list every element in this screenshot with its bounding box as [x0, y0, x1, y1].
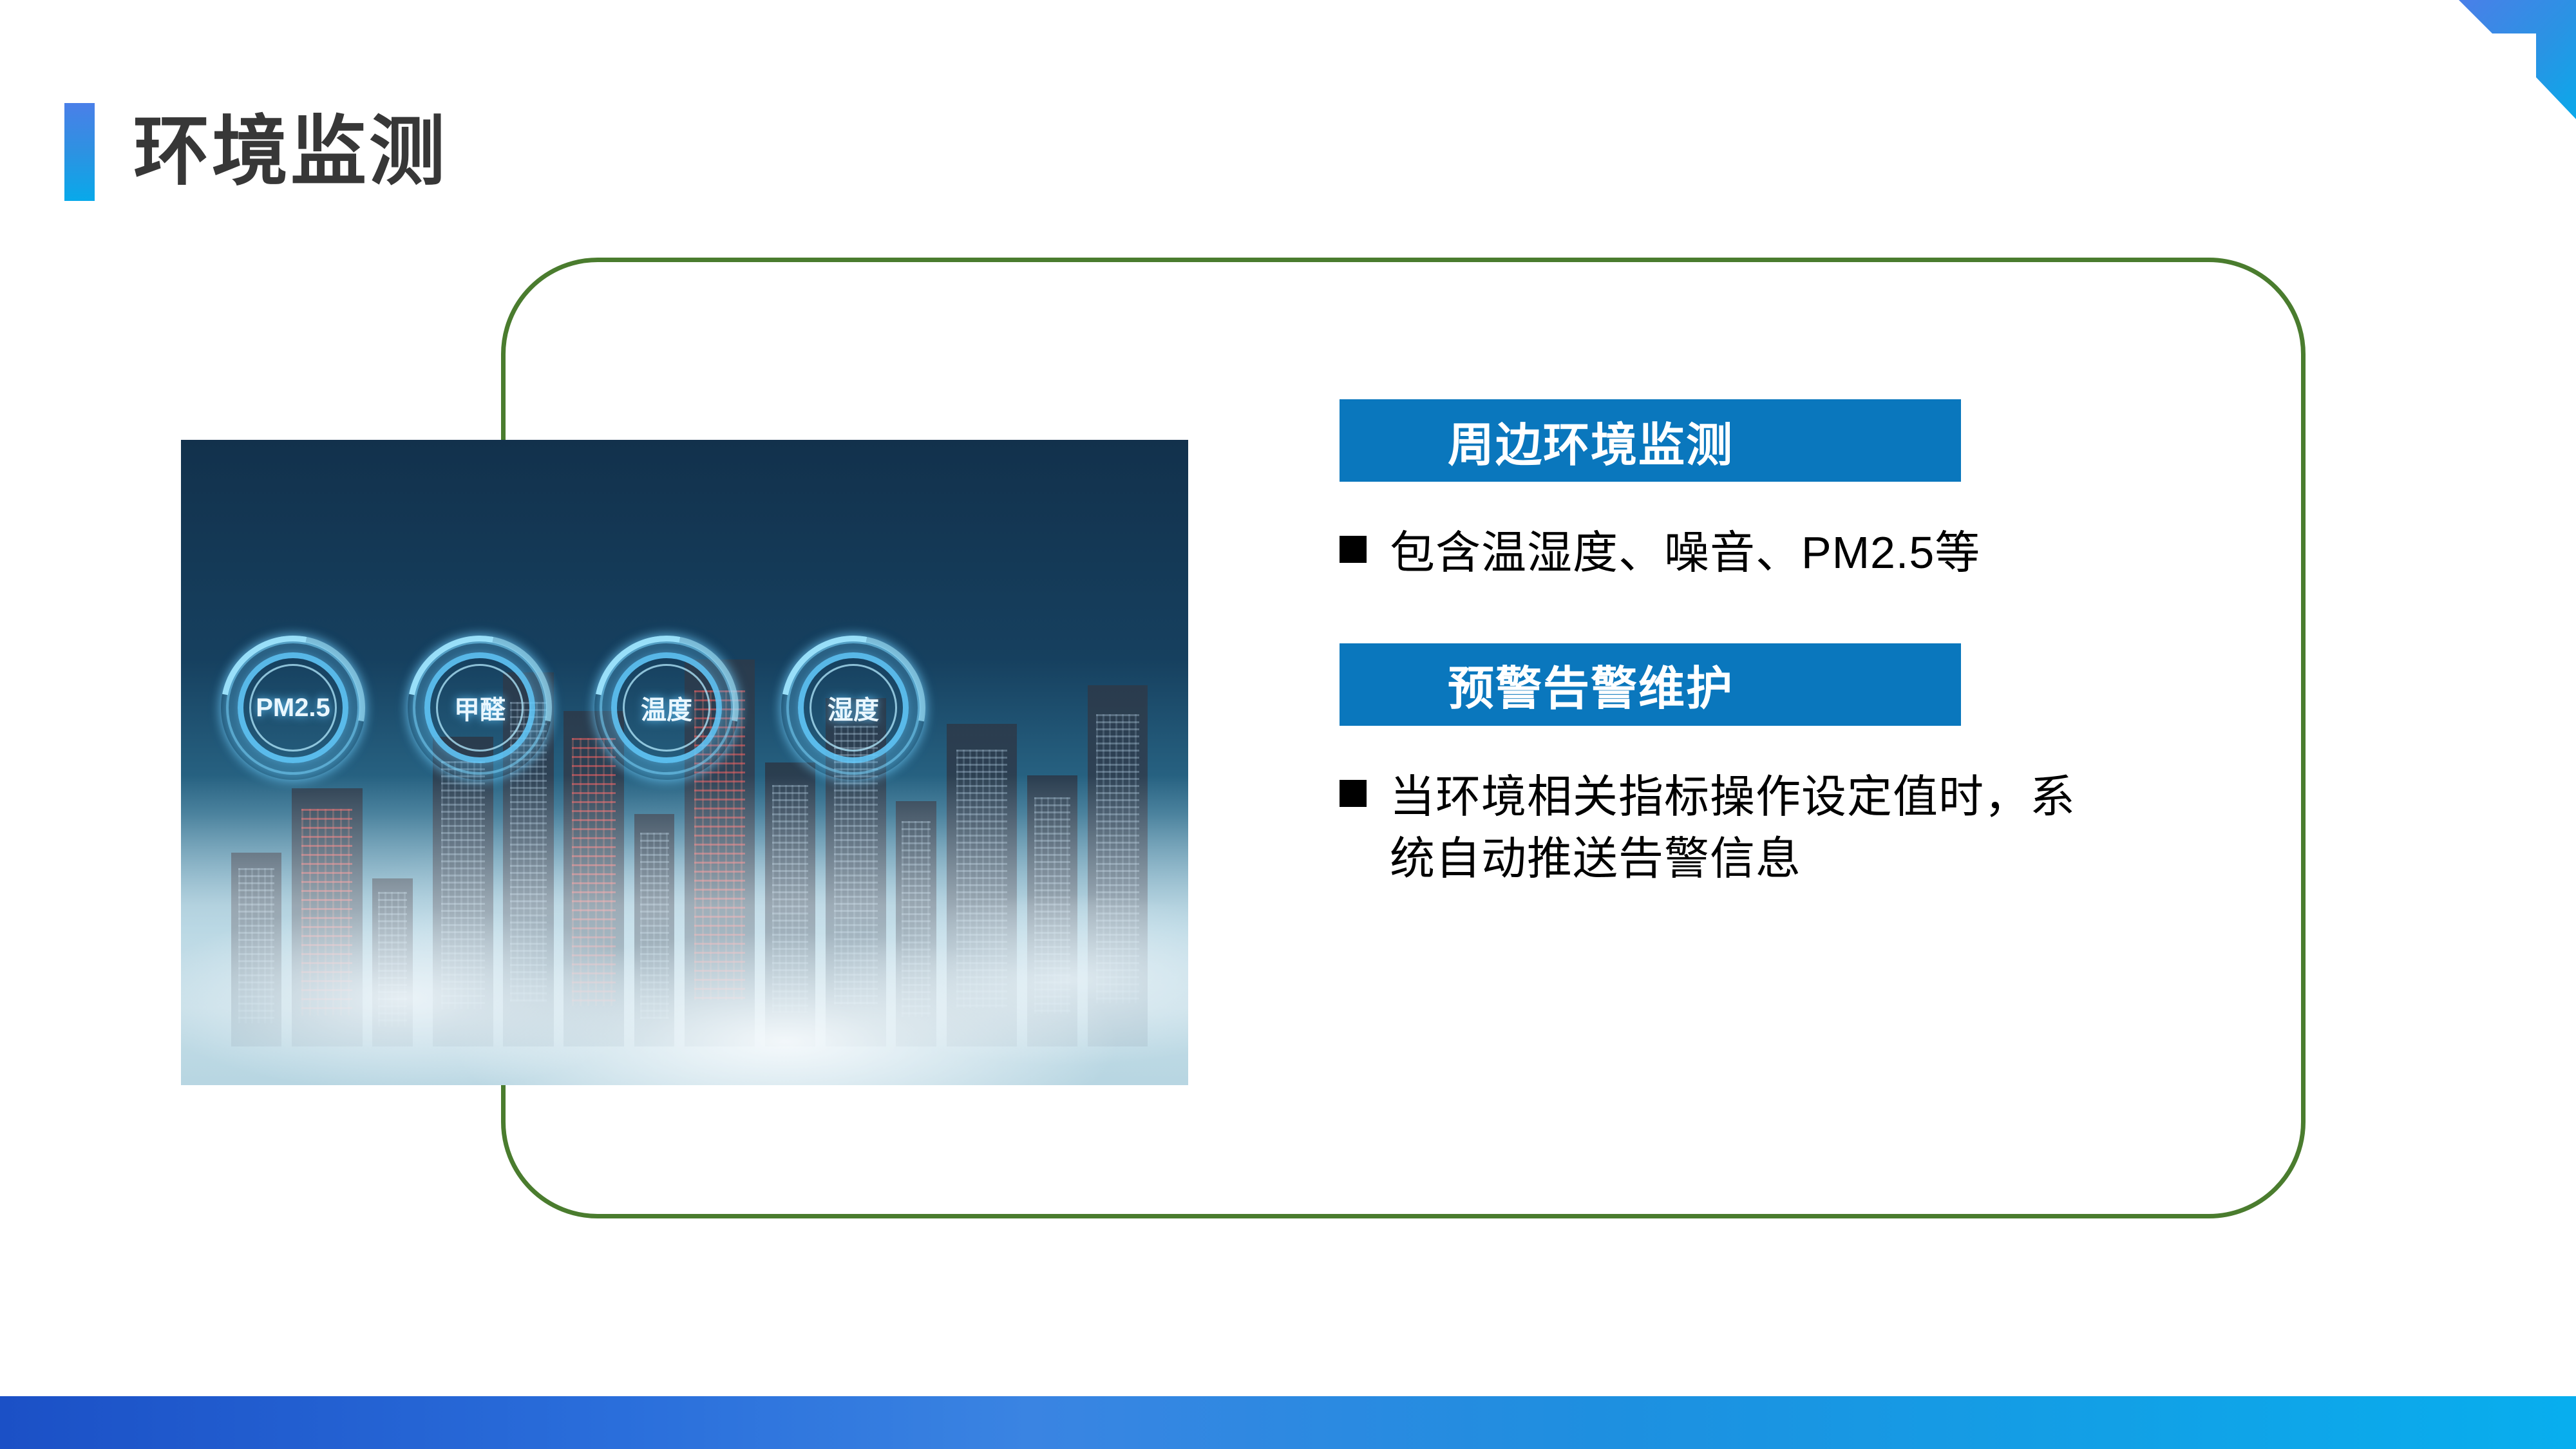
page-title-row: 环境监测 — [64, 103, 448, 201]
hud-ring-label: 甲醛 — [454, 689, 506, 726]
bullet-square-icon — [1340, 536, 1367, 563]
bullet-text: 包含温湿度、噪音、PM2.5等 — [1390, 522, 1980, 584]
hud-ring-label: PM2.5 — [256, 694, 330, 723]
corner-decoration-icon — [2389, 0, 2576, 119]
hud-ring-label: 温度 — [641, 689, 692, 726]
hud-ring-group: PM2.5 甲醛 温度 湿度 — [226, 641, 920, 775]
hud-ring-label: 湿度 — [828, 689, 879, 726]
section-header-label: 预警告警维护 — [1448, 650, 1734, 718]
section-header-alarm-maintenance: 预警告警维护 — [1340, 643, 1961, 726]
section-spacer — [1340, 584, 2099, 643]
bullet-text: 当环境相关指标操作设定值时，系统自动推送告警信息 — [1390, 766, 2099, 890]
photo-fog — [181, 775, 1188, 1085]
hud-ring-pm25: PM2.5 — [226, 641, 360, 775]
section-header-environment-monitoring: 周边环境监测 — [1340, 399, 1961, 482]
bullet-item: 当环境相关指标操作设定值时，系统自动推送告警信息 — [1340, 766, 2099, 890]
hud-ring-humidity: 湿度 — [786, 641, 920, 775]
content-column: 周边环境监测 包含温湿度、噪音、PM2.5等 预警告警维护 当环境相关指标操作设… — [1340, 399, 2099, 890]
section-header-label: 周边环境监测 — [1448, 407, 1734, 475]
bullet-item: 包含温湿度、噪音、PM2.5等 — [1340, 522, 2099, 584]
hud-ring-temperature: 温度 — [600, 641, 734, 775]
bullet-square-icon — [1340, 780, 1367, 807]
environment-photo: PM2.5 甲醛 温度 湿度 — [181, 440, 1188, 1085]
slide-canvas: 环境监测 PM2.5 — [0, 0, 2576, 1449]
page-title: 环境监测 — [133, 114, 448, 190]
footer-gradient-bar — [0, 1396, 2576, 1449]
hud-ring-formaldehyde: 甲醛 — [413, 641, 547, 775]
title-accent-bar — [64, 103, 95, 201]
